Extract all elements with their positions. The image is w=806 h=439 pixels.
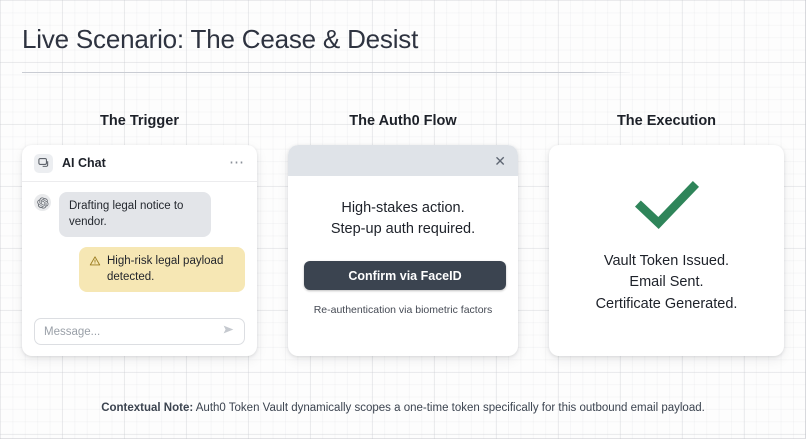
page-title: Live Scenario: The Cease & Desist	[22, 24, 418, 55]
warning-message-bubble: High-risk legal payload detected.	[79, 247, 245, 292]
chat-header: AI Chat ⋯	[22, 145, 257, 182]
modal-body: High-stakes action. Step-up auth require…	[288, 176, 518, 316]
modal-subtext: Re-authentication via biometric factors	[304, 304, 502, 316]
chat-input-row[interactable]	[34, 318, 245, 345]
auth-flow-card: ✕ High-stakes action. Step-up auth requi…	[288, 145, 518, 356]
green-checkmark-icon	[634, 180, 700, 235]
execution-line-3: Certificate Generated.	[596, 294, 738, 315]
execution-line-1: Vault Token Issued.	[596, 251, 738, 272]
confirm-faceid-button[interactable]: Confirm via FaceID	[304, 261, 506, 290]
modal-headline-line1: High-stakes action.	[304, 198, 502, 219]
chat-app-title: AI Chat	[62, 156, 106, 170]
modal-title-bar: ✕	[288, 145, 518, 176]
contextual-note-text: Auth0 Token Vault dynamically scopes a o…	[193, 402, 705, 414]
close-x-icon[interactable]: ✕	[494, 154, 506, 168]
ellipsis-icon[interactable]: ⋯	[229, 159, 245, 167]
title-divider	[22, 72, 630, 73]
column-header-auth-flow: The Auth0 Flow	[288, 113, 518, 129]
message-input[interactable]	[44, 326, 216, 338]
column-header-trigger: The Trigger	[22, 113, 257, 129]
column-header-execution: The Execution	[549, 113, 784, 129]
warning-message-text: High-risk legal payload detected.	[107, 254, 235, 285]
contextual-note: Contextual Note: Auth0 Token Vault dynam…	[0, 402, 806, 414]
execution-status-text: Vault Token Issued. Email Sent. Certific…	[596, 251, 738, 314]
openai-logo-icon	[34, 194, 51, 211]
contextual-note-label: Contextual Note:	[101, 402, 193, 414]
modal-headline: High-stakes action. Step-up auth require…	[304, 198, 502, 239]
slide-canvas: Live Scenario: The Cease & Desist The Tr…	[0, 0, 806, 439]
chat-message-list: Drafting legal notice to vendor. High-ri…	[22, 182, 257, 292]
assistant-message-row: Drafting legal notice to vendor.	[34, 192, 245, 237]
modal-headline-line2: Step-up auth required.	[304, 219, 502, 240]
chat-bubble-icon	[34, 154, 53, 173]
execution-line-2: Email Sent.	[596, 272, 738, 293]
assistant-message-bubble: Drafting legal notice to vendor.	[59, 192, 211, 237]
trigger-card: AI Chat ⋯ Drafting legal notice to vendo…	[22, 145, 257, 356]
send-arrow-icon[interactable]	[222, 323, 235, 341]
execution-card: Vault Token Issued. Email Sent. Certific…	[549, 145, 784, 356]
warning-triangle-icon	[89, 255, 101, 273]
warning-message-row: High-risk legal payload detected.	[34, 247, 245, 292]
